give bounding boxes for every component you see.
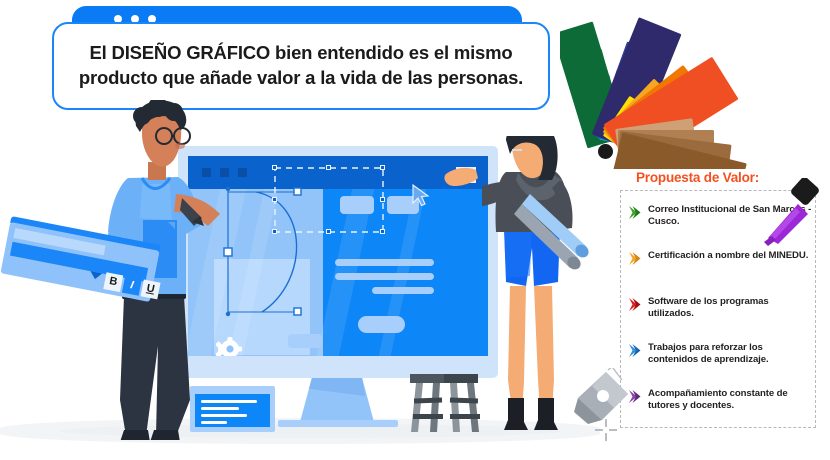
selection-handle-tr[interactable]: [380, 165, 385, 170]
stool-leg-1: [411, 383, 423, 432]
bezier-control-bottom[interactable]: [294, 308, 301, 315]
arrow-bullet-icon-3: [628, 297, 641, 312]
selection-handle-tm[interactable]: [326, 165, 331, 170]
selection-handle-bl[interactable]: [272, 229, 277, 234]
female-boot-right: [534, 398, 558, 430]
ui-text-line-3: [372, 287, 434, 294]
panel-title: Propuesta de Valor:: [636, 170, 759, 185]
selection-handle-mr[interactable]: [380, 197, 385, 202]
stool-seat-light: [410, 374, 444, 383]
female-boot-left: [504, 398, 528, 430]
mini-window-card: [190, 386, 275, 432]
male-hair-curl-1: [133, 107, 151, 125]
value-item-text-2: Certificación a nombre del MINEDU.: [648, 250, 808, 266]
stool-leg-4: [467, 383, 479, 432]
mini-card-line-4: [201, 421, 227, 424]
male-cheek: [175, 143, 185, 149]
stool-leg-2: [430, 383, 440, 432]
mini-card-line-3: [201, 414, 247, 417]
selection-handle-tl[interactable]: [272, 165, 277, 170]
quote-text: El DISEÑO GRÁFICO bien entendido es el m…: [65, 41, 537, 91]
ui-text-line-2: [335, 273, 434, 280]
monitor-base: [278, 420, 398, 427]
ui-pill-button-1[interactable]: [340, 196, 374, 214]
mini-card-screen: [195, 394, 270, 427]
female-leg-left: [508, 286, 526, 410]
quote-callout: El DISEÑO GRÁFICO bien entendido es el m…: [20, 6, 540, 111]
female-leg-right: [534, 286, 554, 410]
crosshair-marker-icon: [594, 418, 618, 442]
female-hand-pointing: [440, 160, 480, 194]
stool-brace-3: [413, 414, 443, 419]
female-hand-shape: [444, 168, 478, 186]
male-trousers: [120, 296, 190, 436]
stool-brace-4: [450, 414, 480, 419]
value-item-text-5: Acompañamiento constante de tutores y do…: [648, 388, 814, 413]
value-item-text-3: Software de los programas utilizados.: [648, 296, 814, 321]
quote-line-1: El DISEÑO GRÁFICO bien entendido es el m…: [90, 42, 513, 63]
metal-stool: [400, 372, 490, 434]
stylus-pen-icon: [178, 196, 218, 236]
male-hair-curl-3: [165, 103, 183, 121]
selection-handle-bm[interactable]: [326, 229, 331, 234]
ui-pill-button-3[interactable]: [288, 334, 322, 348]
arrow-bullet-icon-4: [628, 343, 641, 358]
mini-card-line-2: [201, 407, 239, 410]
value-item-text-4: Trabajos para reforzar los contenidos de…: [648, 342, 814, 367]
value-item-5: Acompañamiento constante de tutores y do…: [628, 388, 814, 413]
stool-brace-1: [414, 398, 442, 404]
bold-button[interactable]: B: [103, 272, 123, 292]
stool-brace-2: [450, 398, 478, 404]
value-item-4: Trabajos para reforzar los contenidos de…: [628, 342, 814, 367]
underline-button[interactable]: U: [141, 280, 161, 300]
selection-handle-br[interactable]: [380, 229, 385, 234]
illustration-canvas: El DISEÑO GRÁFICO bien entendido es el m…: [0, 0, 830, 460]
mini-card-line-1: [201, 400, 257, 403]
quote-line-2: producto que añade valor a la vida de la…: [79, 67, 523, 88]
selection-handle-ml[interactable]: [272, 197, 277, 202]
pen-nib-hole: [597, 390, 609, 402]
ui-text-line-1: [335, 259, 434, 266]
pen-nib-guide-1: [608, 368, 628, 370]
text-format-toolbar-prop: B I U: [4, 236, 164, 316]
fan-pivot-dot: [598, 144, 613, 159]
stool-leg-3: [450, 383, 460, 432]
value-item-3: Software de los programas utilizados.: [628, 296, 814, 321]
cursor-pointer-icon: [412, 184, 430, 208]
italic-button[interactable]: I: [122, 276, 142, 296]
arrow-bullet-icon-2: [628, 251, 641, 266]
value-item-2: Certificación a nombre del MINEDU.: [628, 250, 814, 266]
male-shoe-right: [150, 430, 180, 440]
male-shoe-left: [120, 430, 150, 440]
arrow-bullet-icon-1: [628, 205, 641, 220]
ui-cta-button[interactable]: [358, 316, 405, 333]
female-shorts-shade: [504, 228, 532, 278]
quote-box: El DISEÑO GRÁFICO bien entendido es el m…: [52, 22, 550, 110]
dropper-bulb: [789, 178, 820, 207]
eyedropper-icon: [760, 178, 826, 250]
